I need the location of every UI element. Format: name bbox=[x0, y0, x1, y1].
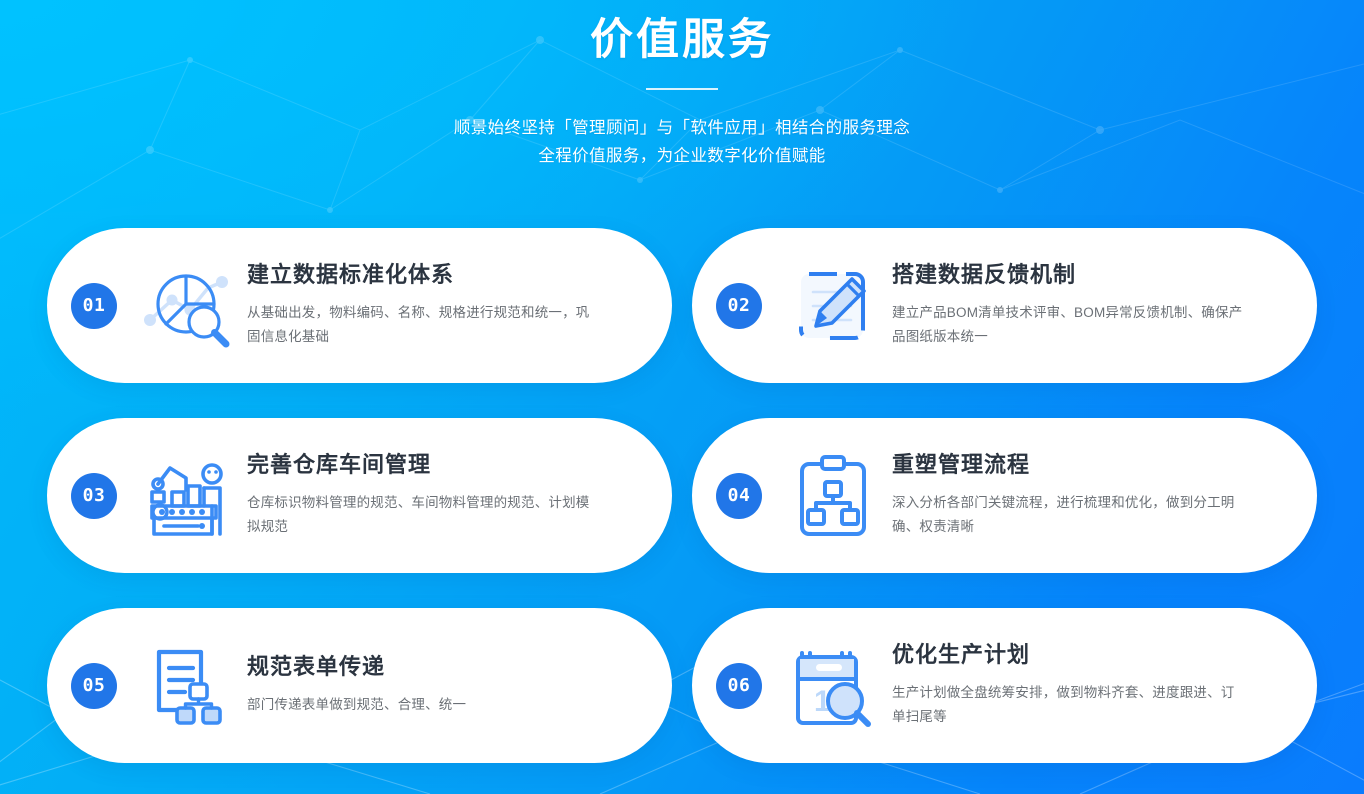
card-number-badge: 01 bbox=[71, 283, 117, 329]
card-description: 仓库标识物料管理的规范、车间物料管理的规范、计划模拟规范 bbox=[247, 491, 602, 539]
service-card-01[interactable]: 01 bbox=[47, 228, 672, 383]
document-flow-icon bbox=[129, 640, 247, 732]
page-title: 价值服务 bbox=[0, 14, 1364, 68]
page-subtitle: 顺景始终坚持「管理顾问」与「软件应用」相结合的服务理念 全程价值服务，为企业数字… bbox=[0, 114, 1364, 170]
pie-chart-magnifier-icon bbox=[129, 260, 247, 352]
calendar-magnifier-icon: 11 bbox=[774, 640, 892, 732]
card-title: 规范表单传递 bbox=[247, 654, 638, 680]
service-card-02[interactable]: 02 搭建数据反馈机制 建立产品BO bbox=[692, 228, 1317, 383]
factory-worker-conveyor-icon bbox=[129, 450, 247, 542]
title-divider bbox=[646, 88, 718, 90]
subtitle-line-2: 全程价值服务，为企业数字化价值赋能 bbox=[0, 142, 1364, 170]
card-title: 优化生产计划 bbox=[892, 642, 1283, 668]
page-header: 价值服务 顺景始终坚持「管理顾问」与「软件应用」相结合的服务理念 全程价值服务，… bbox=[0, 0, 1364, 170]
card-description: 建立产品BOM清单技术评审、BOM异常反馈机制、确保产品图纸版本统一 bbox=[892, 301, 1247, 349]
card-description: 部门传递表单做到规范、合理、统一 bbox=[247, 693, 638, 717]
card-number-badge: 06 bbox=[716, 663, 762, 709]
card-text: 规范表单传递 部门传递表单做到规范、合理、统一 bbox=[247, 654, 672, 717]
service-card-03[interactable]: 03 bbox=[47, 418, 672, 573]
card-description: 深入分析各部门关键流程，进行梳理和优化，做到分工明确、权责清晰 bbox=[892, 491, 1247, 539]
service-card-04[interactable]: 04 重塑管理流程 深入分析各部门关键流程，进行梳理和优化，做到分工明确、权责清… bbox=[692, 418, 1317, 573]
card-number-badge: 04 bbox=[716, 473, 762, 519]
clipboard-orgchart-icon bbox=[774, 450, 892, 542]
service-card-grid: 01 bbox=[47, 228, 1317, 763]
card-title: 建立数据标准化体系 bbox=[247, 262, 638, 288]
subtitle-line-1: 顺景始终坚持「管理顾问」与「软件应用」相结合的服务理念 bbox=[0, 114, 1364, 142]
card-number-badge: 03 bbox=[71, 473, 117, 519]
card-title: 完善仓库车间管理 bbox=[247, 452, 638, 478]
card-description: 从基础出发，物料编码、名称、规格进行规范和统一，巩固信息化基础 bbox=[247, 301, 602, 349]
card-number-badge: 05 bbox=[71, 663, 117, 709]
card-text: 搭建数据反馈机制 建立产品BOM清单技术评审、BOM异常反馈机制、确保产品图纸版… bbox=[892, 262, 1317, 349]
card-text: 重塑管理流程 深入分析各部门关键流程，进行梳理和优化，做到分工明确、权责清晰 bbox=[892, 452, 1317, 539]
card-description: 生产计划做全盘统筹安排，做到物料齐套、进度跟进、订单扫尾等 bbox=[892, 681, 1247, 729]
service-card-05[interactable]: 05 bbox=[47, 608, 672, 763]
card-title: 搭建数据反馈机制 bbox=[892, 262, 1283, 288]
card-text: 建立数据标准化体系 从基础出发，物料编码、名称、规格进行规范和统一，巩固信息化基… bbox=[247, 262, 672, 349]
card-text: 完善仓库车间管理 仓库标识物料管理的规范、车间物料管理的规范、计划模拟规范 bbox=[247, 452, 672, 539]
card-text: 优化生产计划 生产计划做全盘统筹安排，做到物料齐套、进度跟进、订单扫尾等 bbox=[892, 642, 1317, 729]
card-title: 重塑管理流程 bbox=[892, 452, 1283, 478]
service-card-06[interactable]: 06 11 优化生产计划 生产计划做全盘统筹安排，做到物料齐 bbox=[692, 608, 1317, 763]
card-number-badge: 02 bbox=[716, 283, 762, 329]
document-pencil-icon bbox=[774, 260, 892, 352]
